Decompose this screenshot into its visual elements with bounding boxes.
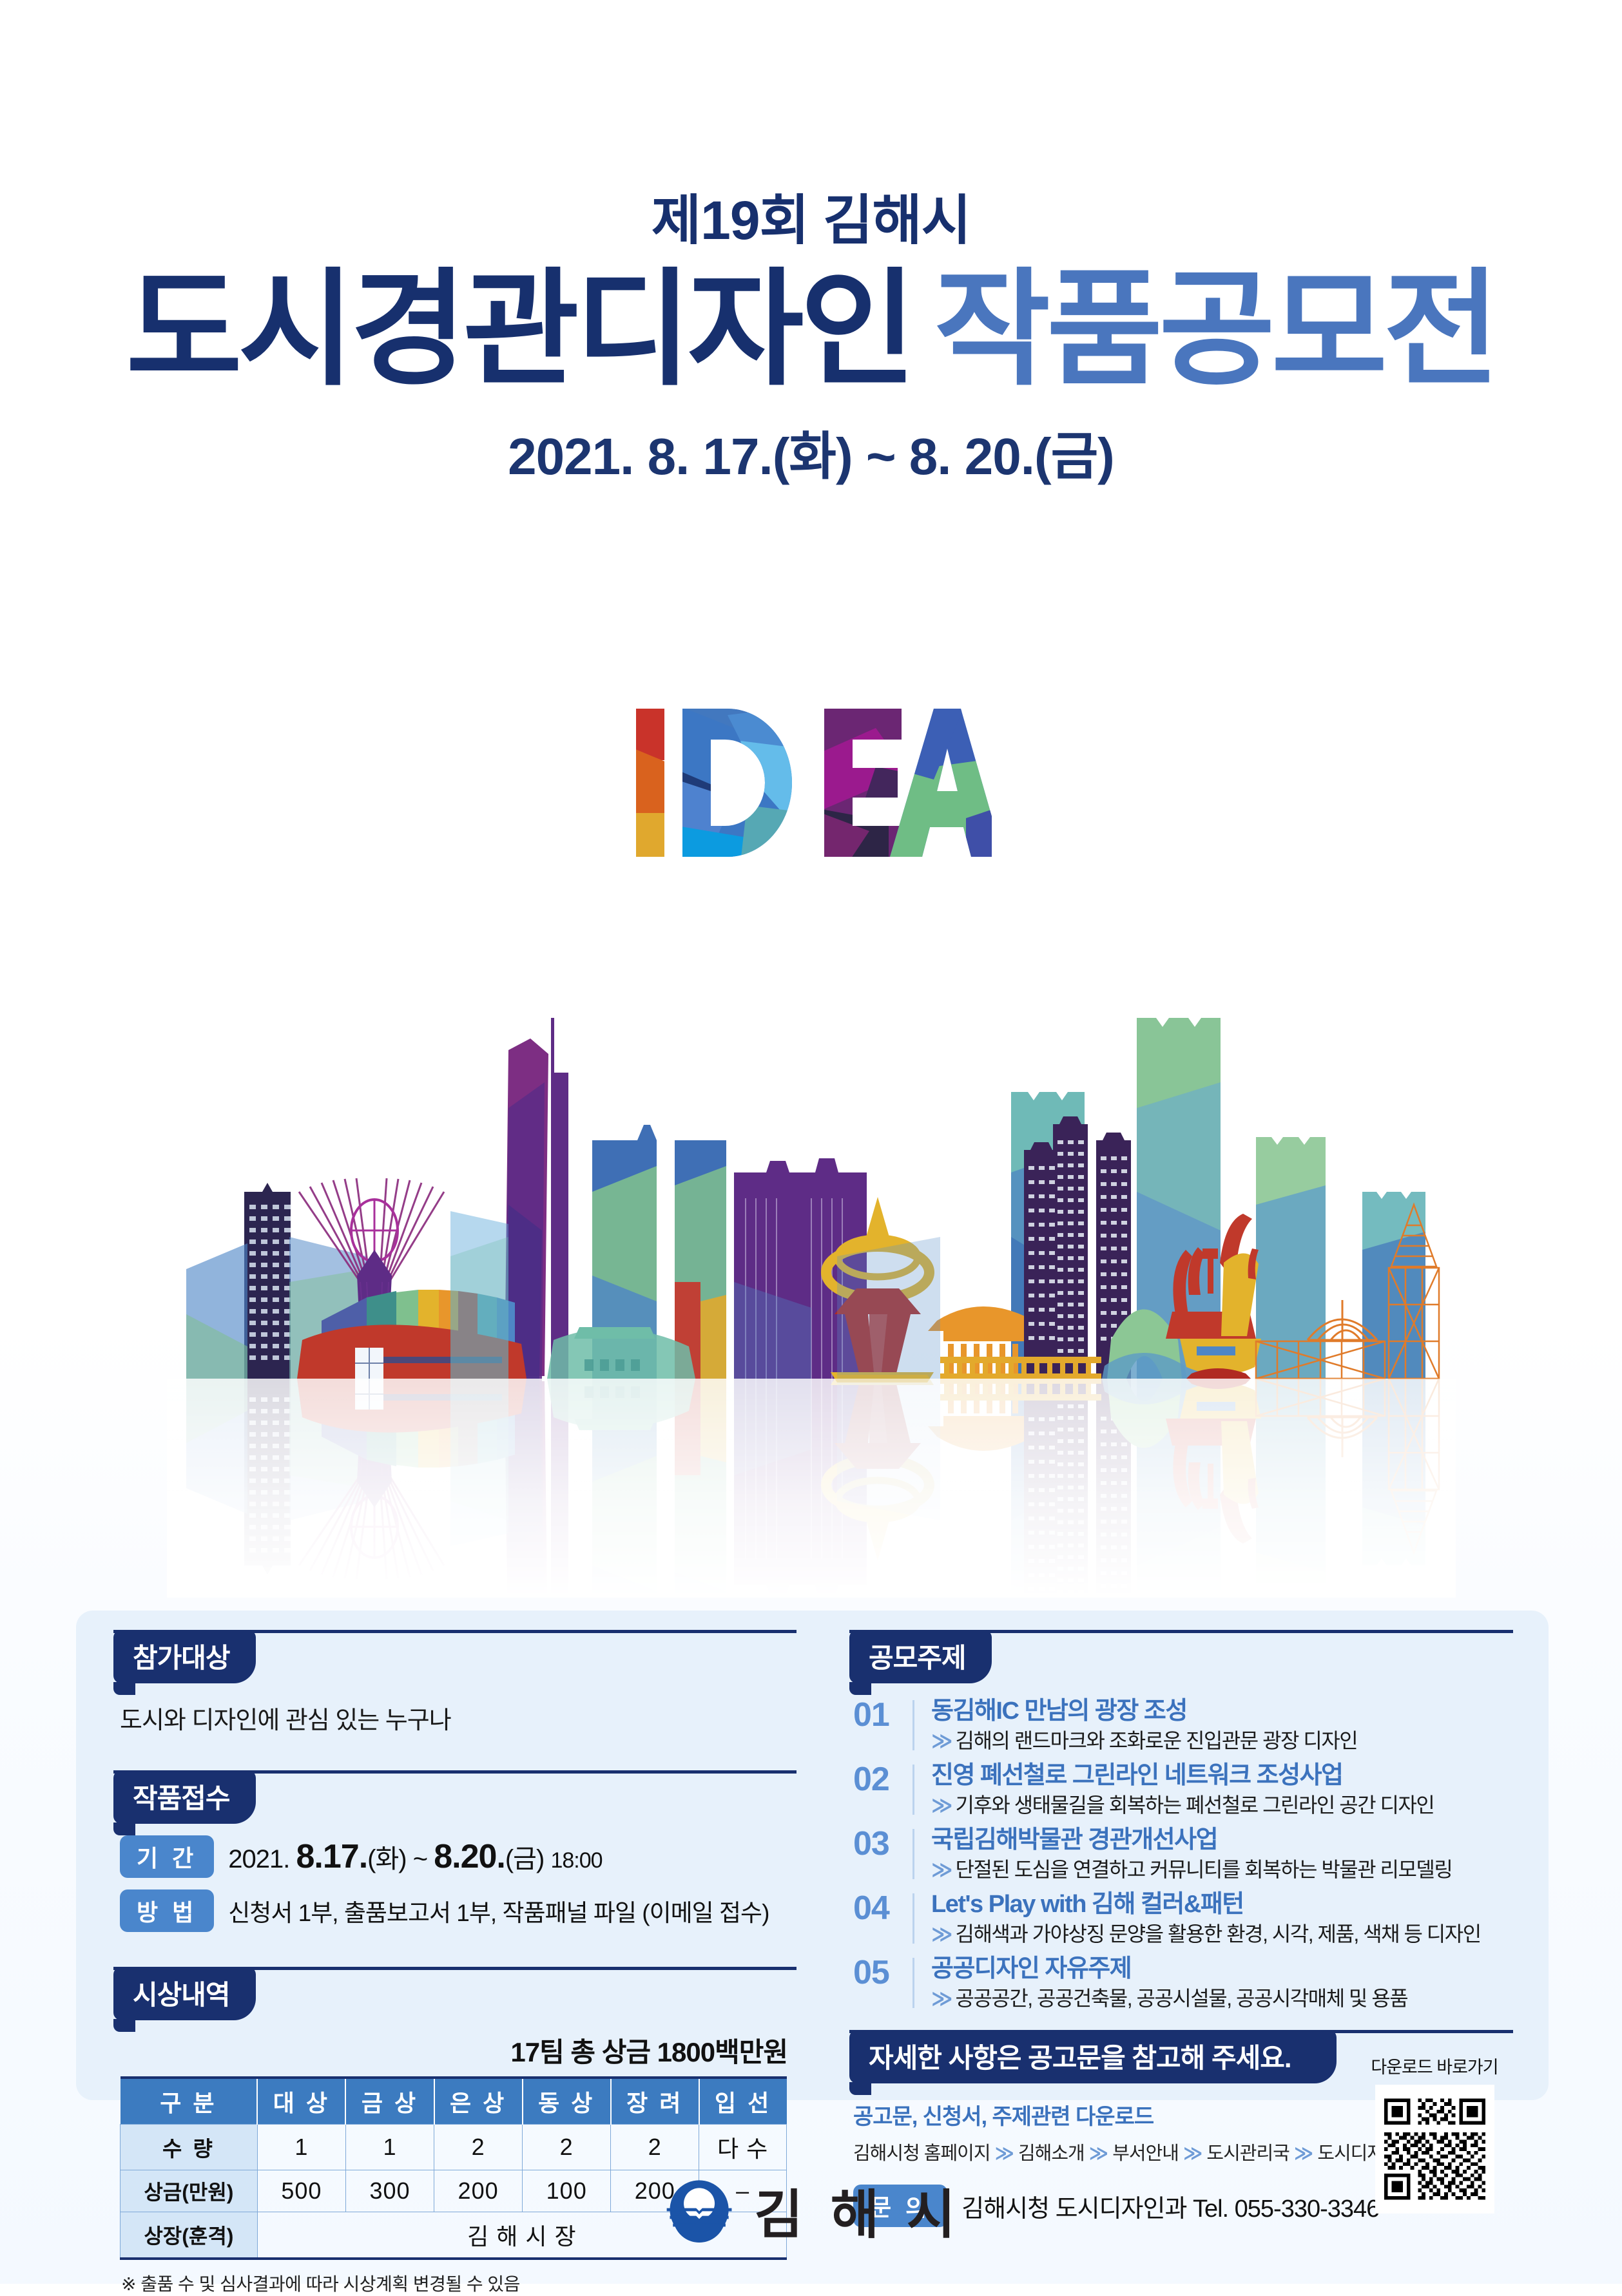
footer-city-name: 김 해 시: [755, 2172, 962, 2248]
section-themes: 공모주제: [849, 1630, 1513, 1683]
th-gold: 금 상: [345, 2078, 434, 2125]
theme-desc: 김해색과 가야상징 문양을 활용한 환경, 시각, 제품, 색채 등 디자인: [956, 1922, 1481, 1946]
period-label: 기 간: [120, 1835, 214, 1878]
skyline-main: [186, 1018, 1439, 1382]
theme-divider: [912, 1893, 914, 1944]
themes-list: 01 동김해IC 만남의 광장 조성 ≫김해의 랜드마크와 조화로운 진입관문 …: [849, 1698, 1513, 2011]
period-date-1: 8.17.: [296, 1838, 367, 1875]
idea-letter-d: [670, 702, 798, 870]
theme-title: 공공디자인 자유주제: [931, 1955, 1513, 1984]
gimhae-city-emblem-icon: [661, 2171, 738, 2248]
theme-desc-row: ≫김해의 랜드마크와 조화로운 진입관문 광장 디자인: [931, 1728, 1513, 1753]
period-value: 2021. 8.17.(화) ~ 8.20.(금) 18:00: [228, 1837, 602, 1876]
th-category: 구 분: [121, 2078, 258, 2125]
theme-desc: 김해의 랜드마크와 조화로운 진입관문 광장 디자인: [956, 1729, 1358, 1752]
theme-number: 05: [853, 1955, 912, 1991]
method-label: 방 법: [120, 1889, 214, 1932]
theme-number: 01: [853, 1698, 912, 1733]
path-step-4: 도시관리국: [1206, 2143, 1289, 2164]
money-gold: 300: [345, 2170, 434, 2212]
chevron-right-icon: ≫: [1294, 2143, 1313, 2164]
chevron-right-icon: ≫: [995, 2143, 1014, 2164]
theme-desc-row: ≫김해색과 가야상징 문양을 활용한 환경, 시각, 제품, 색채 등 디자인: [931, 1922, 1513, 1946]
title-part-1: 도시경관디자인: [126, 259, 912, 400]
chevron-double-right-icon: ≫: [931, 1794, 949, 1817]
footer-logo: 김 해 시: [661, 2171, 962, 2248]
theme-desc-row: ≫단절된 도심을 연결하고 커뮤니티를 회복하는 박물관 리모델링: [931, 1857, 1513, 1882]
idea-letter-a: [889, 702, 992, 870]
theme-number: 04: [853, 1891, 912, 1926]
title-part-2: 작품공모전: [934, 259, 1496, 400]
theme-item-03: 03 국립김해박물관 경관개선사업 ≫단절된 도심을 연결하고 커뮤니티를 회복…: [853, 1826, 1513, 1882]
idea-logo-svg: [631, 702, 992, 870]
qty-grand: 1: [257, 2125, 345, 2170]
awards-tag: 시상내역: [113, 1967, 256, 2020]
qty-encouragement: 2: [611, 2125, 699, 2170]
table-row-quantity: 수 량 1 1 2 2 2 다 수: [121, 2125, 787, 2170]
qty-bronze: 2: [523, 2125, 611, 2170]
eligibility-text: 도시와 디자인에 관심 있는 누구나: [120, 1700, 797, 1736]
method-value: 신청서 1부, 출품보고서 1부, 작품패널 파일 (이메일 접수): [228, 1893, 769, 1928]
chevron-double-right-icon: ≫: [931, 1922, 949, 1946]
table-header-row: 구 분 대 상 금 상 은 상 동 상 장 려 입 선: [121, 2078, 787, 2125]
prize-total: 17팀 총 상금 1800백만원: [113, 2031, 787, 2070]
th-silver: 은 상: [434, 2078, 523, 2125]
theme-desc: 공공공간, 공공건축물, 공공시설물, 공공시각매체 및 용품: [956, 1987, 1408, 2010]
section-submission: 작품접수: [113, 1770, 797, 1824]
theme-item-01: 01 동김해IC 만남의 광장 조성 ≫김해의 랜드마크와 조화로운 진입관문 …: [853, 1698, 1513, 1753]
section-eligibility: 참가대상: [113, 1630, 797, 1683]
theme-divider: [912, 1700, 914, 1750]
period-prefix: 2021.: [228, 1845, 289, 1873]
chevron-right-icon: ≫: [1183, 2143, 1202, 2164]
theme-title: 국립김해박물관 경관개선사업: [931, 1826, 1513, 1855]
theme-divider: [912, 1829, 914, 1879]
th-selection: 입 선: [699, 2078, 787, 2125]
info-right-column: 공모주제 01 동김해IC 만남의 광장 조성 ≫김해의 랜드마크와 조화로운 …: [849, 1630, 1513, 2227]
th-bronze: 동 상: [523, 2078, 611, 2125]
theme-title: 동김해IC 만남의 광장 조성: [931, 1698, 1513, 1726]
money-grand: 500: [257, 2170, 345, 2212]
period-day-2: (금): [505, 1845, 544, 1873]
section-awards: 시상내역: [113, 1967, 797, 2020]
period-day-1: (화): [367, 1845, 406, 1873]
theme-title: 진영 폐선철로 그린라인 네트워크 조성사업: [931, 1762, 1513, 1790]
poster-root: 제19회 김해시 도시경관디자인작품공모전 2021. 8. 17.(화) ~ …: [0, 0, 1622, 2284]
theme-item-05: 05 공공디자인 자유주제 ≫공공공간, 공공건축물, 공공시설물, 공공시각매…: [853, 1955, 1513, 2011]
theme-number: 02: [853, 1762, 912, 1797]
submission-period-row: 기 간 2021. 8.17.(화) ~ 8.20.(금) 18:00: [120, 1835, 797, 1878]
info-panel: 참가대상 도시와 디자인에 관심 있는 누구나 작품접수 기 간 2021. 8…: [76, 1611, 1549, 2100]
theme-item-04: 04 Let's Play with 김해 컬러&패턴 ≫김해색과 가야상징 문…: [853, 1891, 1513, 1946]
awards-note: ※ 출품 수 및 심사결과에 따라 시상계획 변경될 수 있음: [121, 2270, 797, 2296]
period-tilde: ~: [413, 1845, 427, 1873]
theme-item-02: 02 진영 폐선철로 그린라인 네트워크 조성사업 ≫기후와 생태물길을 회복하…: [853, 1762, 1513, 1817]
submission-tag: 작품접수: [113, 1770, 256, 1824]
theme-title: Let's Play with 김해 컬러&패턴: [931, 1891, 1513, 1919]
theme-number: 03: [853, 1826, 912, 1862]
row-head-quantity: 수 량: [121, 2125, 258, 2170]
qty-selection: 다 수: [699, 2125, 787, 2170]
chevron-double-right-icon: ≫: [931, 1987, 949, 2010]
qr-download-block[interactable]: 다운로드 바로가기: [1370, 2053, 1499, 2217]
theme-divider: [912, 1958, 914, 2008]
th-grand: 대 상: [257, 2078, 345, 2125]
theme-desc: 기후와 생태물길을 회복하는 폐선철로 그린라인 공간 디자인: [956, 1794, 1434, 1817]
theme-desc-row: ≫기후와 생태물길을 회복하는 폐선철로 그린라인 공간 디자인: [931, 1793, 1513, 1817]
path-step-2: 김해소개: [1018, 2143, 1085, 2164]
path-step-1: 김해시청 홈페이지: [853, 2143, 990, 2164]
inquiry-value: 김해시청 도시디자인과 Tel. 055-330-3346: [961, 2188, 1379, 2224]
theme-desc: 단절된 도심을 연결하고 커뮤니티를 회복하는 박물관 리모델링: [956, 1858, 1453, 1881]
chevron-double-right-icon: ≫: [931, 1729, 949, 1752]
qr-label: 다운로드 바로가기: [1370, 2053, 1499, 2078]
cityscape-illustration: [167, 979, 1456, 1601]
money-bronze: 100: [523, 2170, 611, 2212]
eligibility-tag: 참가대상: [113, 1630, 256, 1683]
chevron-right-icon: ≫: [1089, 2143, 1108, 2164]
period-time: 18:00: [550, 1848, 602, 1873]
title-block: 제19회 김해시 도시경관디자인작품공모전 2021. 8. 17.(화) ~ …: [0, 193, 1622, 490]
period-date-2: 8.20.: [434, 1838, 505, 1875]
qty-gold: 1: [345, 2125, 434, 2170]
row-head-certificate: 상장(훈격): [121, 2212, 258, 2259]
chevron-double-right-icon: ≫: [931, 1858, 949, 1881]
idea-letter-i: [631, 702, 670, 870]
theme-desc-row: ≫공공공간, 공공건축물, 공공시설물, 공공시각매체 및 용품: [931, 1986, 1513, 2011]
row-head-prize-money: 상금(만원): [121, 2170, 258, 2212]
qr-code-icon[interactable]: [1375, 2085, 1494, 2214]
themes-tag: 공모주제: [849, 1630, 992, 1683]
money-silver: 200: [434, 2170, 523, 2212]
page-title: 도시경관디자인작품공모전: [0, 267, 1622, 393]
cityscape-svg: [167, 979, 1456, 1598]
idea-logo: [631, 702, 992, 873]
qty-silver: 2: [434, 2125, 523, 2170]
path-step-3: 부서안내: [1112, 2143, 1179, 2164]
contact-tag: 자세한 사항은 공고문을 참고해 주세요.: [849, 2030, 1337, 2083]
theme-divider: [912, 1765, 914, 1815]
submission-method-row: 방 법 신청서 1부, 출품보고서 1부, 작품패널 파일 (이메일 접수): [120, 1889, 797, 1932]
edition-line: 제19회 김해시: [0, 193, 1622, 247]
th-encouragement: 장 려: [611, 2078, 699, 2125]
event-dates: 2021. 8. 17.(화) ~ 8. 20.(금): [0, 415, 1622, 490]
